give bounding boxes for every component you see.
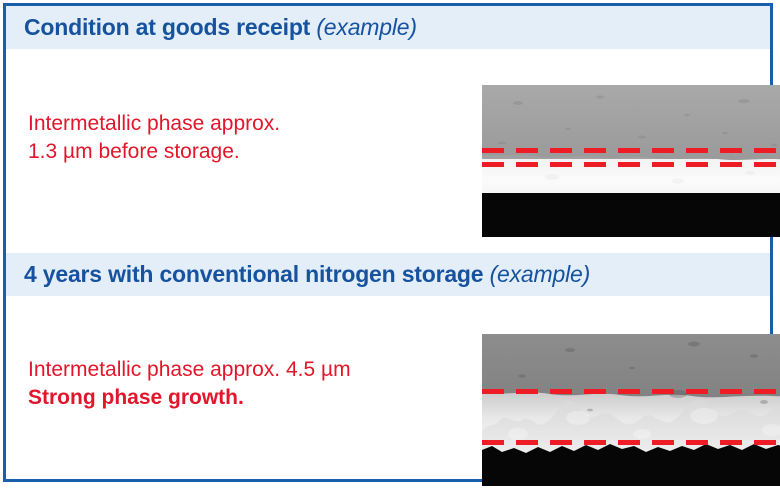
micrograph-2-dashline-upper: [482, 389, 780, 394]
caption-1-line-1: Intermetallic phase approx.: [28, 110, 280, 138]
micrograph-goods-receipt: [482, 85, 780, 237]
section-nitrogen-storage: 4 years with conventional nitrogen stora…: [6, 248, 770, 479]
micrograph-2-substrate-layer: [482, 334, 780, 396]
section-title-2-main: 4 years with conventional nitrogen stora…: [24, 261, 483, 287]
micrograph-1-dashline-upper: [482, 148, 780, 153]
micrograph-1-base-layer: [482, 193, 780, 237]
section-header-banner-2: 4 years with conventional nitrogen stora…: [6, 253, 770, 296]
section-title-1: Condition at goods receipt (example): [24, 16, 417, 39]
section-title-2-note: (example): [490, 261, 590, 287]
micrograph-2-base-layer: [482, 446, 780, 486]
caption-2-line-1: Intermetallic phase approx. 4.5 µm: [28, 356, 351, 384]
section-header-banner-1: Condition at goods receipt (example): [6, 6, 770, 49]
caption-2: Intermetallic phase approx. 4.5 µm Stron…: [28, 356, 351, 411]
micrograph-nitrogen-storage: [482, 334, 780, 486]
caption-2-line-2: Strong phase growth.: [28, 384, 351, 412]
outer-frame: Condition at goods receipt (example) Int…: [3, 3, 773, 482]
section-goods-receipt: Condition at goods receipt (example) Int…: [6, 6, 770, 248]
section-title-1-main: Condition at goods receipt: [24, 14, 310, 40]
caption-1-line-2: 1.3 µm before storage.: [28, 138, 280, 166]
caption-1: Intermetallic phase approx. 1.3 µm befor…: [28, 110, 280, 165]
slide-root: Condition at goods receipt (example) Int…: [0, 0, 780, 490]
section-title-2: 4 years with conventional nitrogen stora…: [24, 263, 590, 286]
micrograph-2-dashline-lower: [482, 440, 780, 445]
micrograph-1-dashline-lower: [482, 162, 780, 167]
section-title-1-note: (example): [316, 14, 416, 40]
